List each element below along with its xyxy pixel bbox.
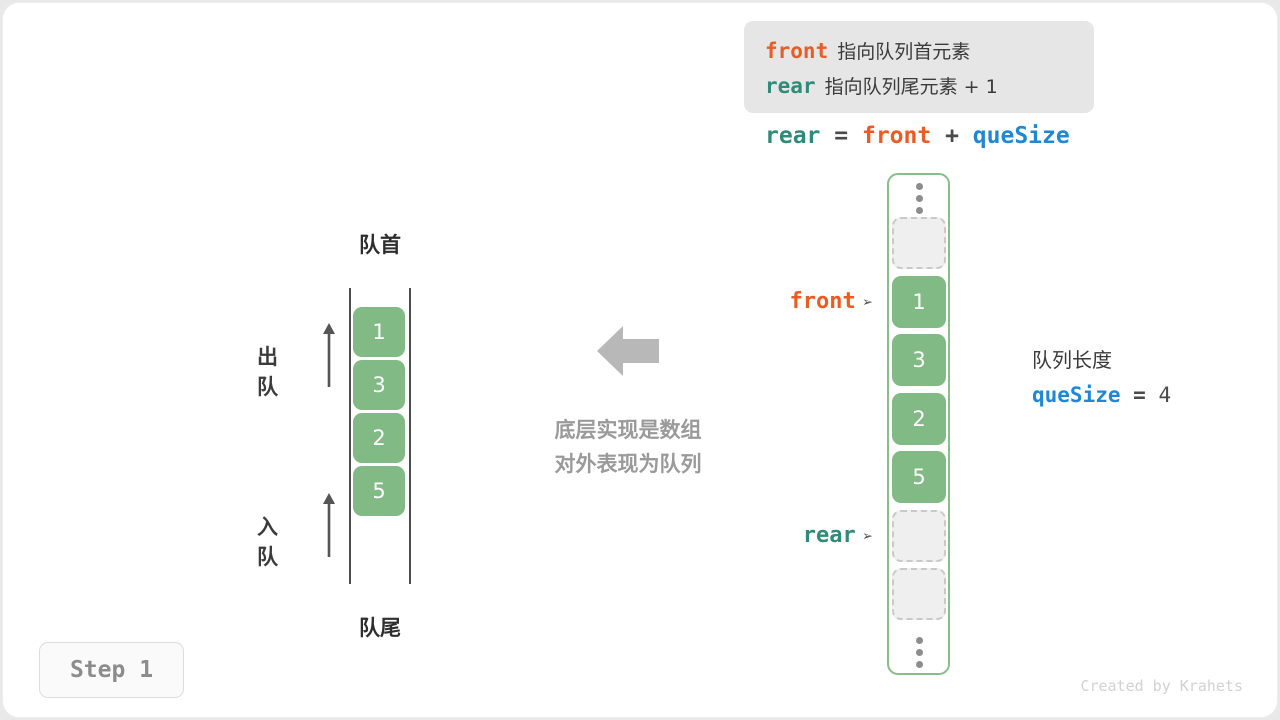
pointer-arrow-icon: ➢: [863, 527, 873, 547]
diagram-card: front指向队列首元素 rear指向队列尾元素 + 1 rear = fron…: [3, 3, 1277, 717]
array-slot-filled: 2: [892, 393, 946, 445]
arrow-up-icon: [320, 489, 338, 559]
array-slot-empty: [892, 510, 946, 562]
queue-cell: 1: [353, 307, 405, 357]
legend-keyword-front: front: [765, 39, 828, 63]
array-top-ellipsis-icon: [911, 183, 927, 214]
array-bottom-ellipsis-icon: [911, 637, 927, 668]
pointer-front-label: front: [790, 289, 856, 314]
quesize-value: 4: [1158, 383, 1171, 407]
quesize-variable: queSize: [1032, 383, 1121, 407]
formula-rhs-quesize: queSize: [973, 123, 1070, 149]
center-note: 底层实现是数组 对外表现为队列: [513, 413, 743, 481]
formula-rear-equals-front-plus-quesize: rear = front + queSize: [765, 123, 1070, 149]
array-slot-filled: 1: [892, 276, 946, 328]
legend-description-front: 指向队列首元素: [837, 41, 970, 63]
pointer-front: front➢: [703, 289, 873, 314]
arrow-left-icon: [597, 323, 659, 379]
queue-size-expression: queSize = 4: [1032, 383, 1171, 407]
pointer-rear-label: rear: [803, 523, 856, 548]
pointer-rear: rear➢: [703, 523, 873, 548]
formula-plus: +: [945, 123, 959, 149]
legend-row-front: front指向队列首元素: [765, 34, 1094, 69]
legend-row-rear: rear指向队列尾元素 + 1: [765, 69, 1094, 104]
legend-description-rear: 指向队列尾元素 + 1: [825, 76, 998, 98]
formula-equals: =: [834, 123, 848, 149]
step-badge: Step 1: [39, 642, 184, 698]
legend-keyword-rear: rear: [765, 74, 816, 98]
array-slot-empty: [892, 217, 946, 269]
array-slot-filled: 5: [892, 451, 946, 503]
operation-enqueue-label: 入队: [257, 511, 278, 571]
queue-size-note: 队列长度 queSize = 4: [1032, 344, 1171, 407]
formula-lhs: rear: [765, 123, 820, 149]
queue-rail-right: [409, 288, 411, 584]
legend-box: front指向队列首元素 rear指向队列尾元素 + 1: [744, 21, 1094, 113]
queue-rail-left: [349, 288, 351, 584]
queue-cell: 2: [353, 413, 405, 463]
queue-cell: 3: [353, 360, 405, 410]
arrow-up-icon: [320, 319, 338, 389]
operation-dequeue-label: 出队: [257, 341, 278, 401]
pointer-arrow-icon: ➢: [863, 293, 873, 313]
center-note-line1: 底层实现是数组: [513, 413, 743, 447]
queue-cell: 5: [353, 466, 405, 516]
array-slot-filled: 3: [892, 334, 946, 386]
center-note-line2: 对外表现为队列: [513, 447, 743, 481]
formula-rhs-front: front: [862, 123, 931, 149]
queue-size-title: 队列长度: [1032, 344, 1171, 373]
quesize-equals: =: [1133, 383, 1146, 407]
array-slot-empty: [892, 568, 946, 620]
queue-tail-label: 队尾: [350, 612, 410, 642]
page-background: front指向队列首元素 rear指向队列尾元素 + 1 rear = fron…: [0, 0, 1280, 720]
credit-text: Created by Krahets: [1023, 677, 1243, 695]
queue-head-label: 队首: [350, 229, 410, 259]
